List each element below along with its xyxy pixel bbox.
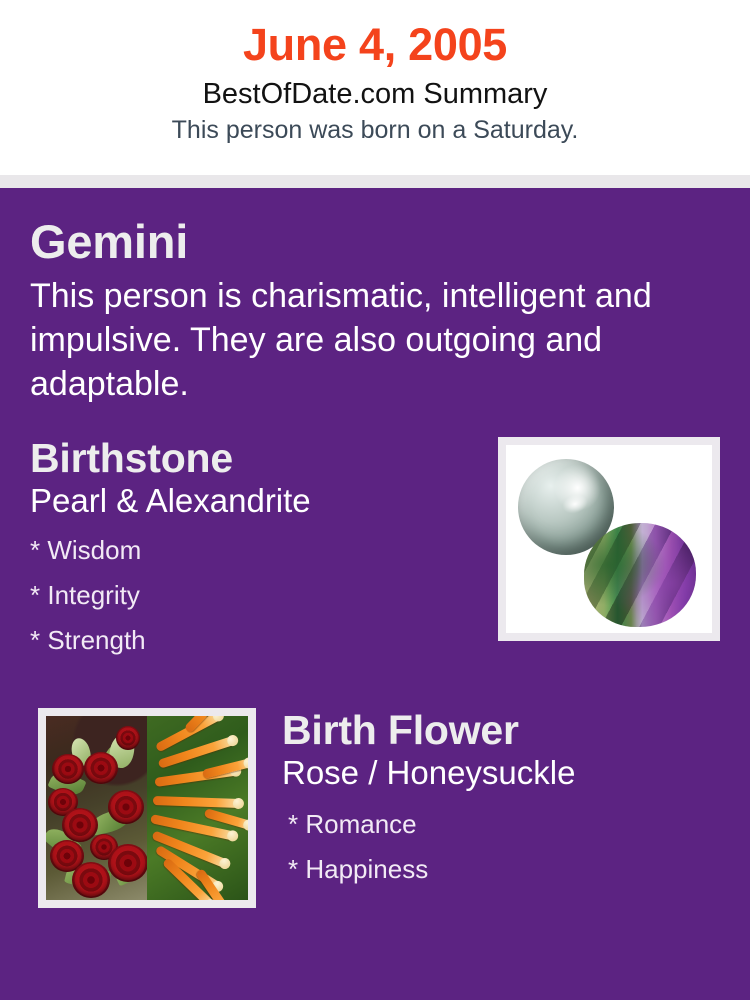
list-item: * Wisdom: [30, 528, 480, 573]
trumpet-flower-shape: [153, 796, 241, 808]
zodiac-title: Gemini: [30, 214, 720, 270]
birth-flower-subtitle: Rose / Honeysuckle: [282, 752, 722, 794]
list-item: * Happiness: [288, 847, 722, 892]
rose-shape: [72, 862, 110, 898]
birthstone-subtitle: Pearl & Alexandrite: [30, 480, 480, 522]
birth-flower-title: Birth Flower: [282, 706, 722, 754]
birthstone-traits-list: * Wisdom * Integrity * Strength: [30, 528, 480, 663]
list-item: * Romance: [288, 802, 722, 847]
summary-panel: Gemini This person is charismatic, intel…: [0, 188, 750, 1000]
birth-flower-photo: [46, 716, 248, 900]
birth-flower-photo-frame: [38, 708, 256, 908]
birthstone-photo-frame: [498, 437, 720, 641]
birth-flower-text-block: Birth Flower Rose / Honeysuckle * Romanc…: [282, 706, 722, 892]
zodiac-section: Gemini This person is charismatic, intel…: [0, 188, 750, 406]
zodiac-description: This person is charismatic, intelligent …: [30, 274, 702, 406]
birth-flower-section: Birth Flower Rose / Honeysuckle * Romanc…: [0, 702, 750, 912]
page-header: June 4, 2005 BestOfDate.com Summary This…: [0, 0, 750, 175]
day-of-week-note: This person was born on a Saturday.: [0, 114, 750, 146]
birthstone-text-block: Birthstone Pearl & Alexandrite * Wisdom …: [30, 434, 480, 663]
birthstone-photo: [506, 445, 712, 633]
list-item: * Integrity: [30, 573, 480, 618]
birthstone-title: Birthstone: [30, 434, 480, 482]
header-divider: [0, 175, 750, 188]
rose-shape: [62, 808, 98, 842]
birthstone-section: Birthstone Pearl & Alexandrite * Wisdom …: [0, 434, 750, 674]
page-title-date: June 4, 2005: [0, 18, 750, 72]
rose-shape: [84, 752, 118, 784]
red-roses-image: [46, 716, 147, 900]
rose-shape: [108, 790, 144, 824]
alexandrite-gem-icon: [584, 523, 696, 627]
site-name-subtitle: BestOfDate.com Summary: [0, 75, 750, 113]
birth-flower-traits-list: * Romance * Happiness: [282, 802, 722, 892]
orange-honeysuckle-image: [147, 716, 248, 900]
rose-shape: [108, 844, 147, 882]
rose-shape: [52, 754, 84, 784]
flower-photo-split: [46, 716, 248, 900]
rose-shape: [116, 726, 140, 750]
list-item: * Strength: [30, 618, 480, 663]
